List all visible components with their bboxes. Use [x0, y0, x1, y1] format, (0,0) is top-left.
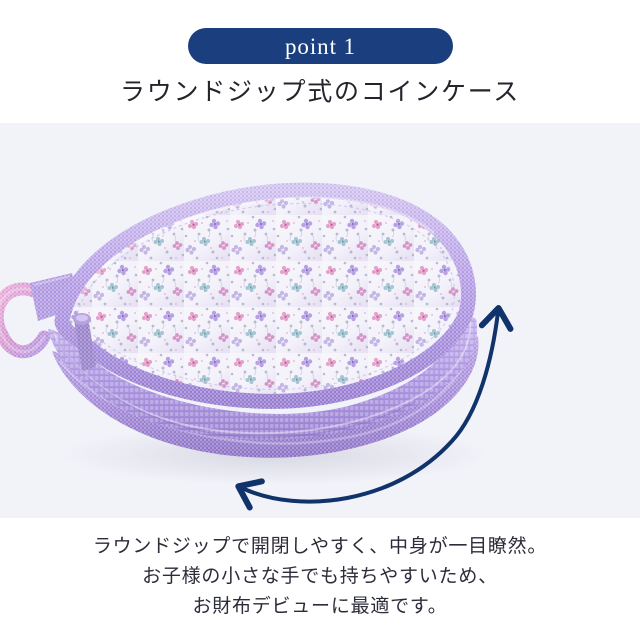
caption-line-2: お子様の小さな手でも持ちやすいため、	[142, 562, 498, 592]
product-photo-stage	[0, 123, 640, 518]
caption-section: ラウンドジップで開閉しやすく、中身が一目瞭然。 お子様の小さな手でも持ちやすいた…	[0, 518, 640, 640]
point-badge: point 1	[188, 28, 453, 64]
header-section: point 1 ラウンドジップ式のコインケース	[0, 0, 640, 123]
product-photo-panel	[0, 123, 640, 518]
caption-line-3: お財布デビューに最適です。	[193, 592, 448, 622]
coin-case-illustration	[0, 123, 640, 518]
point-badge-label: point 1	[285, 35, 356, 58]
feature-subtitle: ラウンドジップ式のコインケース	[0, 72, 640, 108]
caption-line-1: ラウンドジップで開閉しやすく、中身が一目瞭然。	[93, 532, 547, 562]
